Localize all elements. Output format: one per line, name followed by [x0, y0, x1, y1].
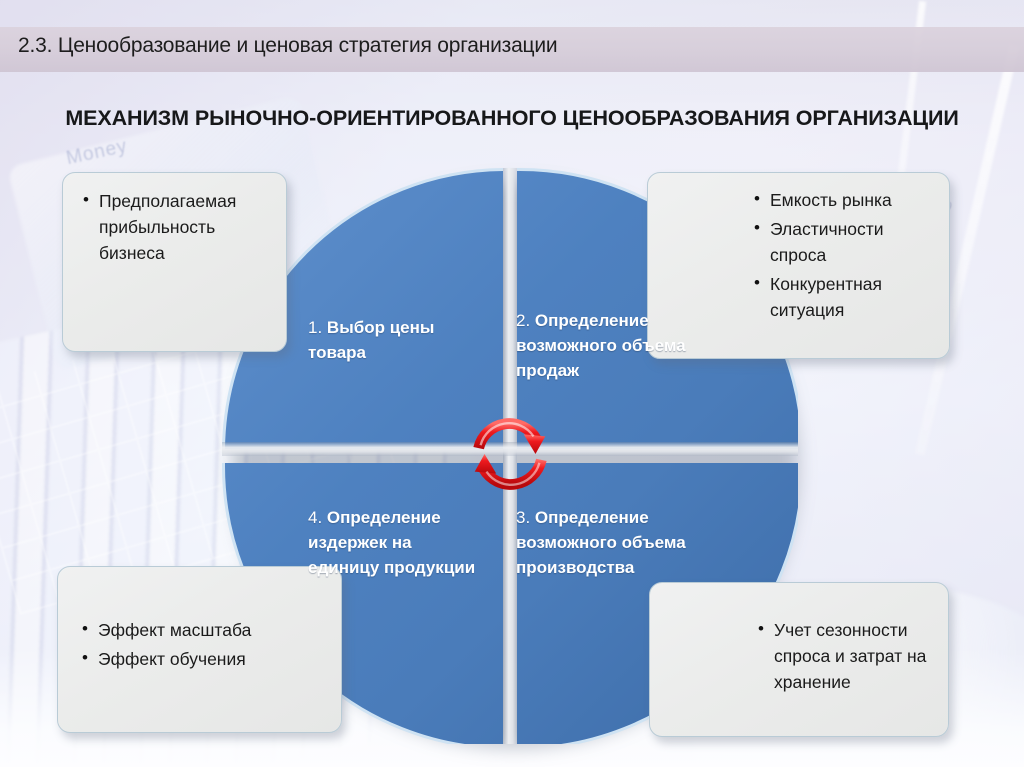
callout-top-left[interactable]: Предполагаемая прибыльность бизнеса — [62, 172, 287, 352]
callout-bottom-left[interactable]: Эффект масштаба Эффект обучения — [57, 566, 342, 733]
callout-bottom-right[interactable]: Учет сезонности спроса и затрат на хране… — [649, 582, 949, 737]
list-item: Эффект обучения — [98, 646, 325, 672]
callout-top-right-list: Емкость рынка Эластичности спроса Конкур… — [664, 187, 933, 323]
callout-top-left-list: Предполагаемая прибыльность бизнеса — [79, 188, 270, 266]
quadrant-1-number: 1. — [308, 318, 322, 337]
callout-bottom-left-list: Эффект масштаба Эффект обучения — [78, 617, 325, 672]
list-item: Эффект масштаба — [98, 617, 325, 643]
callout-bottom-right-list: Учет сезонности спроса и затрат на хране… — [666, 617, 932, 695]
section-heading: 2.3. Ценообразование и ценовая стратегия… — [18, 34, 557, 58]
quadrant-4-number: 4. — [308, 508, 322, 527]
list-item: Эластичности спроса — [770, 216, 933, 268]
quadrant-3-text: Определение возможного объема производст… — [516, 508, 686, 577]
slide: Money 1 800 2.3. Ценообразование и ценов… — [0, 0, 1024, 767]
list-item: Предполагаемая прибыльность бизнеса — [99, 188, 270, 266]
quadrant-2-text: Определение возможного объема продаж — [516, 311, 686, 380]
list-item: Емкость рынка — [770, 187, 933, 213]
quadrant-4-label: 4. Определение издержек на единицу проду… — [308, 505, 483, 580]
quadrant-3-number: 3. — [516, 508, 530, 527]
quadrant-3-label: 3. Определение возможного объема произво… — [516, 505, 691, 580]
list-item: Конкурентная ситуация — [770, 271, 933, 323]
quadrant-1-label: 1. Выбор цены товара — [308, 315, 483, 365]
quadrant-4-text: Определение издержек на единицу продукци… — [308, 508, 475, 577]
quadrant-1-text: Выбор цены товара — [308, 318, 434, 362]
list-item: Учет сезонности спроса и затрат на хране… — [774, 617, 932, 695]
quadrant-2-label: 2. Определение возможного объема продаж — [516, 308, 701, 383]
quadrant-2-number: 2. — [516, 311, 530, 330]
cycle-arrows-icon — [461, 405, 559, 503]
page-title: МЕХАНИЗМ РЫНОЧНО-ОРИЕНТИРОВАННОГО ЦЕНООБ… — [0, 106, 1024, 131]
